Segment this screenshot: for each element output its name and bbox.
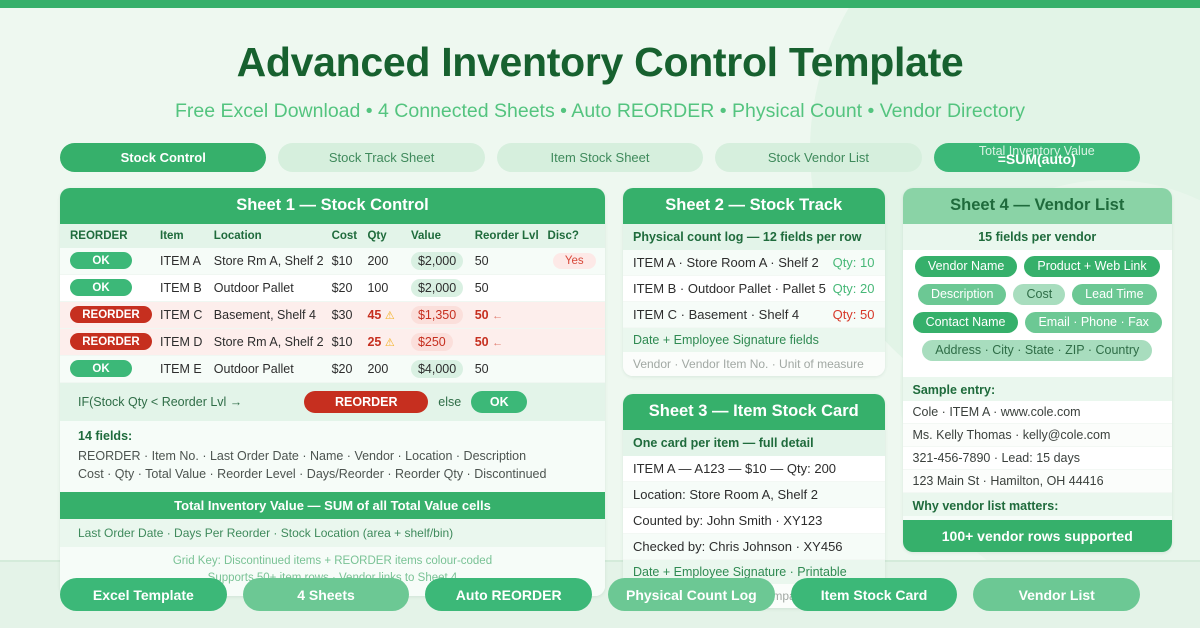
count-row-qty: Qty: 10 [833, 255, 875, 270]
row-value-cell: $1,350 [407, 301, 471, 328]
row-disc-cell [544, 355, 605, 382]
feature-pill-row: Excel Template 4 Sheets Auto REORDER Phy… [0, 578, 1200, 611]
vendor-pill-row: Contact Name Email · Phone · Fax [913, 312, 1163, 333]
row-qty-cell: 45 ⚠ [363, 301, 407, 328]
feature-pill-auto-reorder[interactable]: Auto REORDER [425, 578, 592, 611]
count-row-qty: Qty: 20 [833, 281, 875, 296]
sample-entry-row: 321-456-7890 · Lead: 15 days [903, 447, 1173, 470]
sheet4-title: Sheet 4 — Vendor List [903, 188, 1173, 224]
status-badge-ok: OK [70, 252, 132, 269]
sheet3-title: Sheet 3 — Item Stock Card [623, 394, 885, 430]
status-badge-ok: OK [70, 279, 132, 296]
row-location: Outdoor Pallet [210, 355, 328, 382]
sheet2-title: Sheet 2 — Stock Track [623, 188, 885, 224]
warning-triangle-icon: ⚠ [385, 310, 395, 322]
row-value-cell: $2,000 [407, 274, 471, 301]
col-header-reorder-lvl: Reorder Lvl [471, 224, 544, 248]
feature-pill-4-sheets[interactable]: 4 Sheets [243, 578, 410, 611]
formula-text: IF(Stock Qty < Reorder Lvl → [78, 395, 242, 409]
row-value: $4,000 [411, 360, 463, 378]
total-inventory-value-formula: =SUM(auto) [934, 151, 1140, 167]
list-item[interactable]: Checked by: Chris Johnson · XY456 [623, 534, 885, 560]
top-accent-bar [0, 0, 1200, 8]
col-header-value: Value [407, 224, 471, 248]
sheet2-signature-note: Date + Employee Signature fields [623, 328, 885, 352]
list-item[interactable]: Counted by: John Smith · XY123 [623, 508, 885, 534]
status-badge-reorder: REORDER [70, 306, 152, 323]
feature-pill-excel-template[interactable]: Excel Template [60, 578, 227, 611]
fields-count-title: 14 fields: [78, 429, 587, 443]
table-row[interactable]: OK ITEM E Outdoor Pallet $20 200 $4,000 … [60, 355, 605, 382]
row-item: ITEM C [156, 301, 210, 328]
count-row-text: ITEM A · Store Room A · Shelf 2 [633, 255, 819, 270]
sheet2-subhead: Physical count log — 12 fields per row [623, 224, 885, 250]
list-item[interactable]: ITEM A — A123 — $10 — Qty: 200 [623, 456, 885, 482]
vendor-pill-address: Address · City · State · ZIP · Country [922, 340, 1152, 361]
vendor-field-pill-grid: Vendor Name Product + Web Link Descripti… [903, 250, 1173, 377]
vendor-pill-lead-time: Lead Time [1072, 284, 1156, 305]
row-reorder-level: 50 [471, 355, 544, 382]
sheet1-title: Sheet 1 — Stock Control [60, 188, 605, 224]
table-row[interactable]: OK ITEM B Outdoor Pallet $20 100 $2,000 … [60, 274, 605, 301]
row-reorder-level: 50 [471, 248, 544, 275]
list-item[interactable]: Location: Store Room A, Shelf 2 [623, 482, 885, 508]
tab-stock-control[interactable]: Stock Control [60, 143, 266, 172]
page-title: Advanced Inventory Control Template [0, 0, 1200, 86]
vendor-pill-contact-name: Contact Name [913, 312, 1019, 333]
vendor-pill-row: Description Cost Lead Time [913, 284, 1163, 305]
row-disc-cell [544, 328, 605, 355]
row-status-cell: REORDER [60, 301, 156, 328]
col-header-item: Item [156, 224, 210, 248]
row-disc-cell [544, 301, 605, 328]
left-arrow-icon: ← [492, 310, 503, 322]
row-location: Outdoor Pallet [210, 274, 328, 301]
count-row-text: ITEM B · Outdoor Pallet · Pallet 5 [633, 281, 826, 296]
row-status-cell: REORDER [60, 328, 156, 355]
sheet-tab-strip: Stock Control Stock Track Sheet Item Sto… [0, 143, 1200, 172]
table-row[interactable]: REORDER ITEM D Store Rm A, Shelf 2 $10 2… [60, 328, 605, 355]
row-qty-cell: 25 ⚠ [363, 328, 407, 355]
discontinued-badge: Yes [553, 253, 596, 269]
count-row-qty: Qty: 50 [833, 307, 875, 322]
row-qty: 100 [363, 274, 407, 301]
tab-item-stock-sheet[interactable]: Item Stock Sheet [497, 143, 703, 172]
column-sheet4: Sheet 4 — Vendor List 15 fields per vend… [903, 188, 1173, 552]
stock-control-table: REORDER Item Location Cost Qty Value Reo… [60, 224, 605, 383]
row-item: ITEM B [156, 274, 210, 301]
row-reorder-level: 50 [475, 308, 489, 322]
vendor-pill-row: Vendor Name Product + Web Link [913, 256, 1163, 277]
page-subtitle: Free Excel Download • 4 Connected Sheets… [0, 100, 1200, 123]
row-item: ITEM A [156, 248, 210, 275]
col-header-cost: Cost [328, 224, 364, 248]
col-header-discontinued: Disc? [544, 224, 605, 248]
sample-entry-row: Ms. Kelly Thomas · kelly@cole.com [903, 424, 1173, 447]
fields-list-line-1: REORDER · Item No. · Last Order Date · N… [78, 447, 587, 465]
row-qty: 45 [367, 308, 381, 322]
reorder-formula-row: IF(Stock Qty < Reorder Lvl → REORDER els… [60, 383, 605, 421]
vendor-pill-cost: Cost [1013, 284, 1065, 305]
sample-entry-row: 123 Main St · Hamilton, OH 44416 [903, 470, 1173, 493]
formula-reorder-badge: REORDER [304, 391, 428, 413]
warning-triangle-icon: ⚠ [385, 337, 395, 349]
column-sheet2-sheet3: Sheet 2 — Stock Track Physical count log… [623, 188, 885, 608]
fields-list-line-2: Cost · Qty · Total Value · Reorder Level… [78, 465, 587, 483]
list-item[interactable]: ITEM A · Store Room A · Shelf 2 Qty: 10 [623, 250, 885, 276]
row-item: ITEM E [156, 355, 210, 382]
sample-entry-row: Cole · ITEM A · www.cole.com [903, 401, 1173, 424]
row-reorder-level: 50 [471, 274, 544, 301]
vendor-pill-vendor-name: Vendor Name [915, 256, 1017, 277]
row-cost: $10 [328, 328, 364, 355]
row-value-cell: $2,000 [407, 248, 471, 275]
col-header-location: Location [210, 224, 328, 248]
row-disc-cell [544, 274, 605, 301]
vendor-pill-row: Address · City · State · ZIP · Country [913, 340, 1163, 361]
row-location: Store Rm A, Shelf 2 [210, 248, 328, 275]
formula-else-label: else [438, 395, 461, 409]
table-row[interactable]: REORDER ITEM C Basement, Shelf 4 $30 45 … [60, 301, 605, 328]
status-badge-reorder: REORDER [70, 333, 152, 350]
total-inventory-value-bar: Total Inventory Value — SUM of all Total… [60, 492, 605, 519]
sheet3-subhead: One card per item — full detail [623, 430, 885, 456]
sheet4-panel: Sheet 4 — Vendor List 15 fields per vend… [903, 188, 1173, 552]
vendor-pill-description: Description [918, 284, 1007, 305]
row-cost: $10 [328, 248, 364, 275]
col-header-reorder: REORDER [60, 224, 156, 248]
row-qty: 200 [363, 355, 407, 382]
row-status-cell: OK [60, 355, 156, 382]
sheet1-fields-block: 14 fields: REORDER · Item No. · Last Ord… [60, 421, 605, 492]
row-reorder-level: 50 [475, 335, 489, 349]
table-row[interactable]: OK ITEM A Store Rm A, Shelf 2 $10 200 $2… [60, 248, 605, 275]
feature-pill-item-stock-card[interactable]: Item Stock Card [791, 578, 958, 611]
tab-stock-vendor-list[interactable]: Stock Vendor List [715, 143, 921, 172]
tab-stock-track-sheet[interactable]: Stock Track Sheet [278, 143, 484, 172]
row-qty: 200 [363, 248, 407, 275]
row-reorder-level-cell: 50 ← [471, 301, 544, 328]
feature-pill-vendor-list[interactable]: Vendor List [973, 578, 1140, 611]
row-value: $1,350 [411, 306, 463, 324]
row-location: Store Rm A, Shelf 2 [210, 328, 328, 355]
sample-entry-title: Sample entry: [903, 377, 1173, 401]
row-value-cell: $250 [407, 328, 471, 355]
sheet4-scroll-region: Sheet 4 — Vendor List 15 fields per vend… [903, 188, 1173, 520]
row-value: $250 [411, 333, 453, 351]
row-reorder-level-cell: 50 ← [471, 328, 544, 355]
sheet2-panel: Sheet 2 — Stock Track Physical count log… [623, 188, 885, 376]
row-value: $2,000 [411, 279, 463, 297]
row-cost: $20 [328, 355, 364, 382]
row-status-cell: OK [60, 248, 156, 275]
row-disc-cell: Yes [544, 248, 605, 275]
col-header-qty: Qty [363, 224, 407, 248]
sheet3-panel: Sheet 3 — Item Stock Card One card per i… [623, 394, 885, 608]
column-sheet1: Sheet 1 — Stock Control REORDER Item Loc… [60, 188, 605, 596]
status-badge-ok: OK [70, 360, 132, 377]
row-qty: 25 [367, 335, 381, 349]
count-row-text: ITEM C · Basement · Shelf 4 [633, 307, 799, 322]
row-cost: $30 [328, 301, 364, 328]
row-value-cell: $4,000 [407, 355, 471, 382]
sheet4-subhead: 15 fields per vendor [903, 224, 1173, 250]
vendor-pill-product-web-link: Product + Web Link [1024, 256, 1159, 277]
total-inventory-value-badge: Total Inventory Value =SUM(auto) [934, 143, 1140, 172]
list-item[interactable]: ITEM B · Outdoor Pallet · Pallet 5 Qty: … [623, 276, 885, 302]
row-cost: $20 [328, 274, 364, 301]
formula-ok-badge: OK [471, 391, 527, 413]
row-value: $2,000 [411, 252, 463, 270]
table-header-row: REORDER Item Location Cost Qty Value Reo… [60, 224, 605, 248]
vendor-pill-email-phone-fax: Email · Phone · Fax [1025, 312, 1161, 333]
left-arrow-icon: ← [492, 337, 503, 349]
sheet1-panel: Sheet 1 — Stock Control REORDER Item Loc… [60, 188, 605, 596]
feature-pill-physical-count-log[interactable]: Physical Count Log [608, 578, 775, 611]
row-status-cell: OK [60, 274, 156, 301]
footnote-line-1: Grid Key: Discontinued items + REORDER i… [70, 553, 595, 570]
sheet4-footer-bar: 100+ vendor rows supported [903, 520, 1173, 552]
sheet1-extra-fields-line: Last Order Date · Days Per Reorder · Sto… [60, 519, 605, 547]
list-item[interactable]: ITEM C · Basement · Shelf 4 Qty: 50 [623, 302, 885, 328]
row-item: ITEM D [156, 328, 210, 355]
row-location: Basement, Shelf 4 [210, 301, 328, 328]
why-vendor-list-title: Why vendor list matters: [903, 493, 1173, 516]
sheet2-extra-fields-note: Vendor · Vendor Item No. · Unit of measu… [623, 352, 885, 376]
